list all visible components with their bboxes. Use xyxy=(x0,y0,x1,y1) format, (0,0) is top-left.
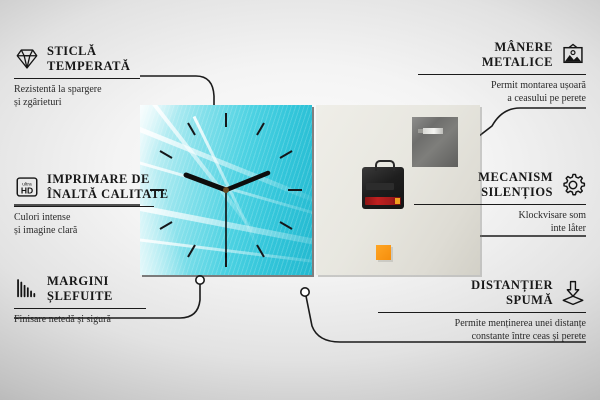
feature-description: Permite menținerea unei distanțe constan… xyxy=(376,317,586,343)
picture-frame-hanger-icon xyxy=(560,42,586,68)
feature-description: Culori intense și imagine clară xyxy=(14,211,224,237)
feature-description: Finisare netedă și sigură xyxy=(14,313,224,326)
feature-header: ultra HD IMPRIMARE DE ÎNALTĂ CALITATE xyxy=(14,172,224,202)
feature-foam-spacer: DISTANȚIER SPUMĂ Permite menținerea unei… xyxy=(376,278,586,343)
feature-header: MARGINI ȘLEFUITE xyxy=(14,274,224,304)
callout-dot-spacer xyxy=(301,288,309,296)
feature-polished-edges: MARGINI ȘLEFUITE Finisare netedă și sigu… xyxy=(14,274,224,326)
feature-header: STICLĂ TEMPERATĂ xyxy=(14,44,224,74)
product-feature-infographic: STICLĂ TEMPERATĂ Rezistentă la spargere … xyxy=(0,0,600,400)
feature-description: Permit montarea ușoară a ceasului pe per… xyxy=(376,79,586,105)
feature-divider xyxy=(418,74,586,76)
feature-description: Klockvisare som inte låter xyxy=(376,209,586,235)
press-down-layer-icon xyxy=(560,280,586,306)
feature-tempered-glass: STICLĂ TEMPERATĂ Rezistentă la spargere … xyxy=(14,44,224,109)
svg-text:HD: HD xyxy=(21,185,33,195)
feature-title: MARGINI ȘLEFUITE xyxy=(47,274,113,304)
feature-title: STICLĂ TEMPERATĂ xyxy=(47,44,130,74)
beveled-edge-icon xyxy=(14,276,40,302)
metal-hanger-bracket xyxy=(412,117,458,167)
feature-title: MÂNERE METALICE xyxy=(482,40,553,70)
feature-high-quality-print: ultra HD IMPRIMARE DE ÎNALTĂ CALITATE Cu… xyxy=(14,172,224,237)
feature-title: IMPRIMARE DE ÎNALTĂ CALITATE xyxy=(47,172,169,202)
diamond-icon xyxy=(14,46,40,72)
feature-header: MECANISM SILENȚIOS xyxy=(376,170,586,200)
feature-silent-mechanism: MECANISM SILENȚIOS Klockvisare som inte … xyxy=(376,170,586,235)
gear-icon xyxy=(560,172,586,198)
feature-title: DISTANȚIER SPUMĂ xyxy=(471,278,553,308)
feature-description: Rezistentă la spargere și zgârieturi xyxy=(14,83,224,109)
ultra-hd-badge-icon: ultra HD xyxy=(14,174,40,200)
feature-divider xyxy=(14,78,140,80)
feature-divider xyxy=(378,312,586,314)
foam-spacer-pad xyxy=(376,245,391,260)
feature-divider xyxy=(14,308,146,310)
feature-divider xyxy=(414,204,586,206)
feature-title: MECANISM SILENȚIOS xyxy=(478,170,553,200)
feature-metal-handles: MÂNERE METALICE Permit montarea ușoară a… xyxy=(376,40,586,105)
feature-divider xyxy=(14,206,154,208)
feature-header: DISTANȚIER SPUMĂ xyxy=(376,278,586,308)
feature-header: MÂNERE METALICE xyxy=(376,40,586,70)
